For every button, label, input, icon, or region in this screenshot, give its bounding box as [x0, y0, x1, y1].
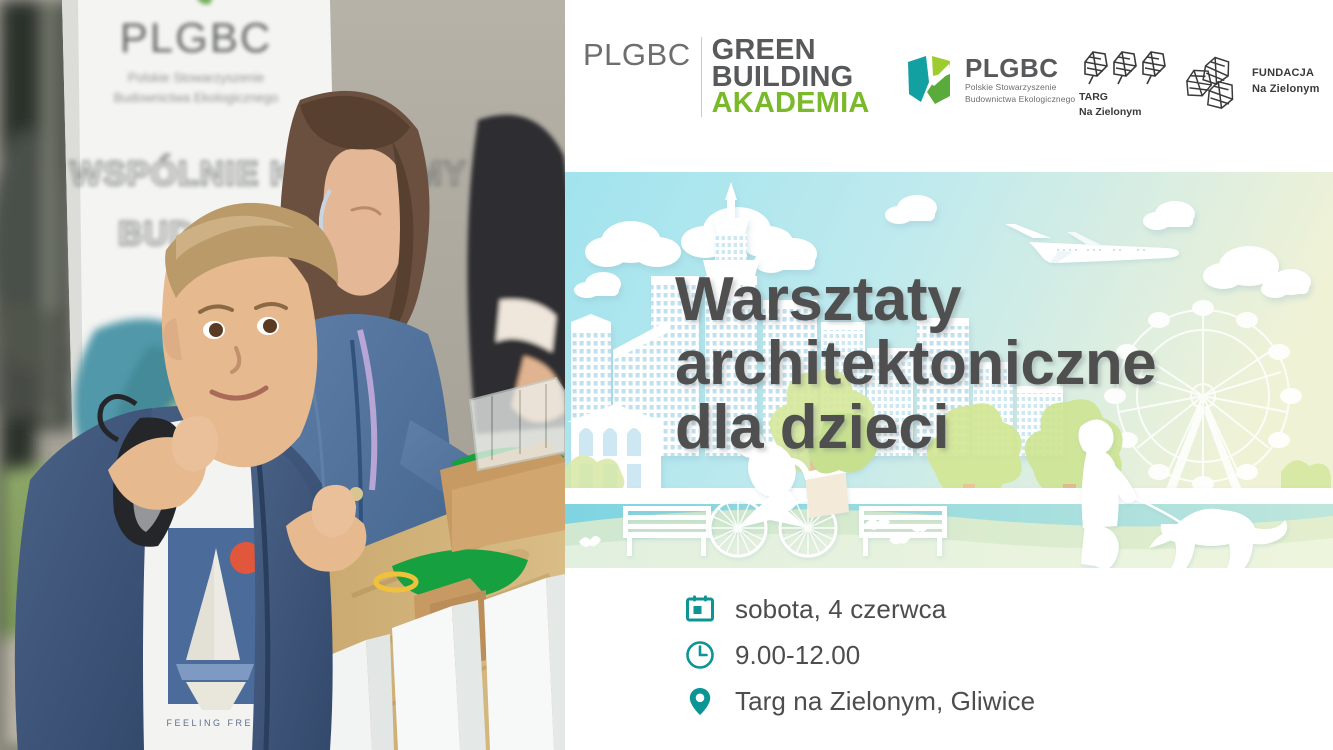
plgbc-leaf-icon [905, 52, 953, 108]
akademia-logo-line-green: GREEN [712, 37, 870, 64]
event-date-text: sobota, 4 czerwca [735, 594, 946, 625]
right-column: PLGBC GREEN BUILDING AKADEMIA PLGBC [565, 0, 1333, 750]
plgbc-association-name: PLGBC [965, 55, 1075, 82]
location-pin-icon [683, 684, 717, 718]
event-date-row: sobota, 4 czerwca [683, 586, 1333, 632]
clock-icon [683, 638, 717, 672]
plgbc-association-logo: PLGBC Polskie Stowarzyszenie Budownictwa… [905, 52, 1075, 108]
akademia-logo-line-building: BUILDING [712, 64, 870, 91]
targ-na-zielonym-logo: TARG Na Zielonym [1079, 46, 1175, 120]
plgbc-association-sub1: Polskie Stowarzyszenie [965, 82, 1075, 93]
event-photo: PLGBC Polskie Stowarzyszenie Budownictwa… [0, 0, 565, 750]
photo-illustration: PLGBC Polskie Stowarzyszenie Budownictwa… [0, 0, 565, 750]
svg-text:Polskie Stowarzyszenie: Polskie Stowarzyszenie [128, 70, 265, 85]
logo-strip: PLGBC GREEN BUILDING AKADEMIA PLGBC [565, 0, 1333, 172]
svg-text:FEELING FREE: FEELING FREE [166, 718, 261, 728]
akademia-logo-divider [701, 37, 702, 117]
svg-text:PLGBC: PLGBC [120, 14, 272, 61]
plgbc-association-sub2: Budownictwa Ekologicznego [965, 94, 1075, 105]
city-park-illustration [565, 172, 1333, 568]
event-details: sobota, 4 czerwca 9.00-12.00 [565, 568, 1333, 750]
event-location-text: Targ na Zielonym, Gliwice [735, 686, 1035, 717]
calendar-icon [683, 592, 717, 626]
fundacja-na-zielonym-logo: FUNDACJA Na Zielonym [1181, 50, 1320, 112]
fundacja-leaves-icon [1181, 50, 1243, 112]
promenade-rail [565, 488, 1333, 504]
fundacja-logo-line2: Na Zielonym [1252, 81, 1320, 98]
targ-logo-line1: TARG [1079, 90, 1175, 105]
svg-text:Budownictwa Ekologicznego: Budownictwa Ekologicznego [114, 90, 279, 105]
poster-root: PLGBC Polskie Stowarzyszenie Budownictwa… [0, 0, 1333, 750]
akademia-logo-line-akademia: AKADEMIA [712, 90, 870, 117]
targ-logo-line2: Na Zielonym [1079, 105, 1175, 120]
akademia-logo-prefix: PLGBC [583, 37, 701, 70]
plgbc-green-building-akademia-logo: PLGBC GREEN BUILDING AKADEMIA [583, 37, 869, 117]
event-banner-illustration: Warsztaty architektoniczne dla dzieci [565, 172, 1333, 568]
event-time-text: 9.00-12.00 [735, 640, 860, 671]
event-time-row: 9.00-12.00 [683, 632, 1333, 678]
targ-leaves-icon [1079, 46, 1175, 86]
fundacja-logo-line1: FUNDACJA [1252, 65, 1320, 82]
event-location-row: Targ na Zielonym, Gliwice [683, 678, 1333, 724]
